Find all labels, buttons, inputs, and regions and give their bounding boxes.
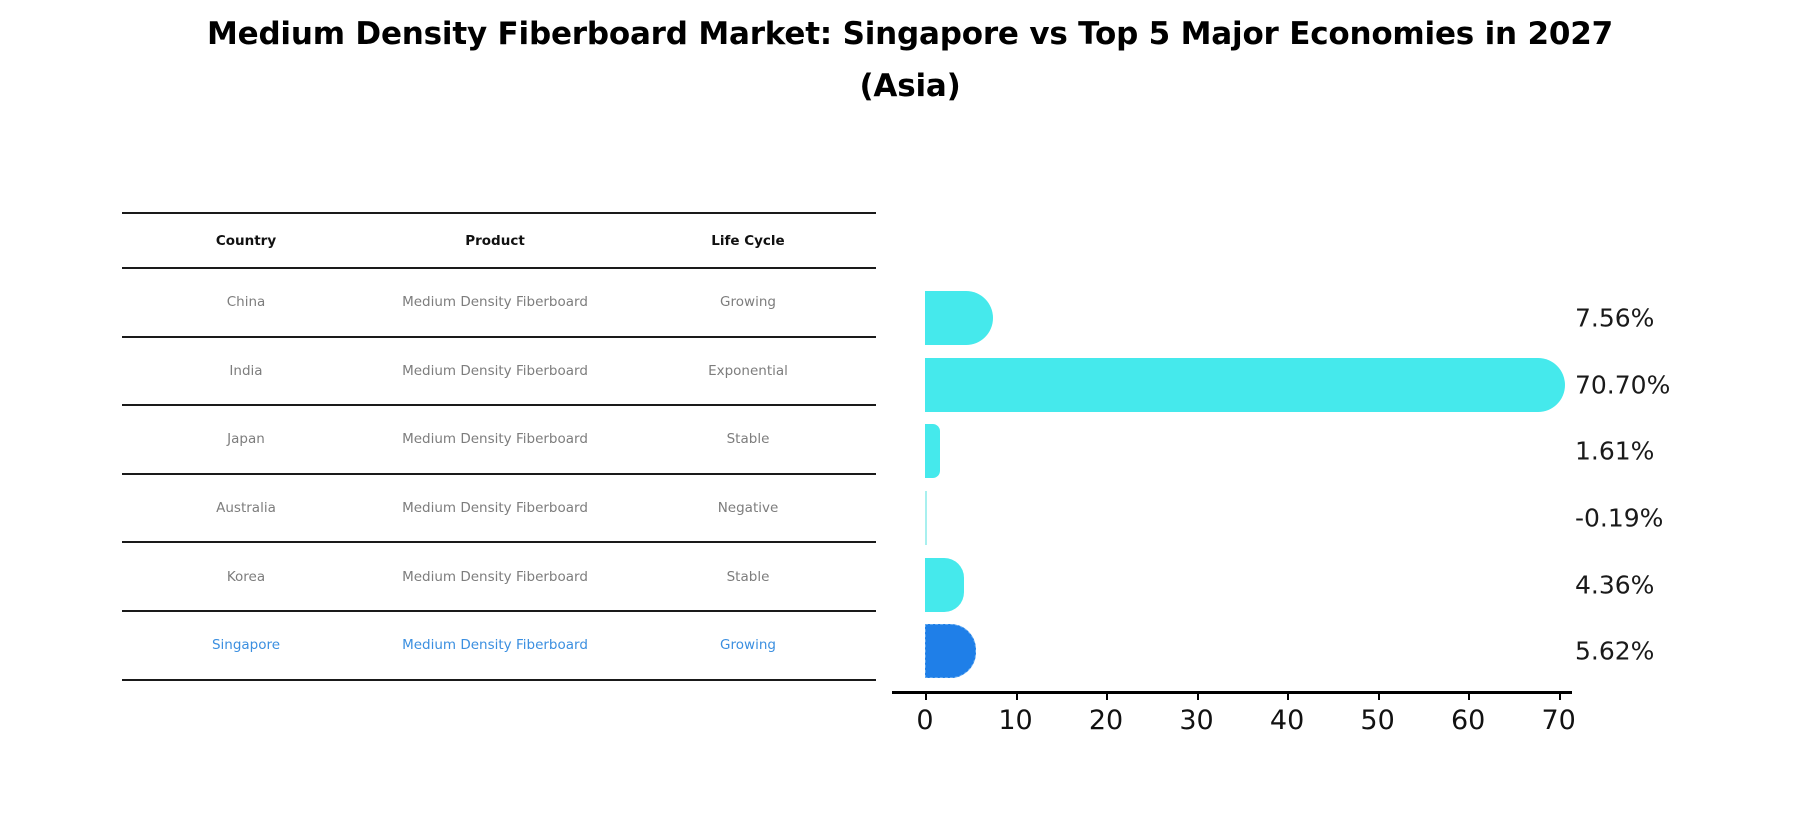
cell-country: Japan [122,406,370,473]
bar-korea[interactable] [925,558,964,612]
x-axis-tick-label: 40 [1270,705,1304,736]
table-row[interactable]: Australia Medium Density Fiberboard Nega… [122,475,876,542]
x-axis-tick [1106,691,1108,700]
bar-singapore[interactable] [925,624,976,678]
cell-product: Medium Density Fiberboard [370,269,620,336]
bar-value-label: 5.62% [1575,637,1654,666]
cell-country: China [122,269,370,336]
cell-life-cycle: Stable [620,543,876,610]
x-axis-tick [1559,691,1561,700]
bar-australia[interactable] [925,491,927,545]
x-axis-line [892,691,1572,694]
table-row[interactable]: Japan Medium Density Fiberboard Stable [122,406,876,473]
bar-track: -0.19% [925,485,1565,552]
cell-life-cycle: Exponential [620,338,876,405]
bar-china[interactable] [925,291,993,345]
x-axis-tick [1468,691,1470,700]
cell-product: Medium Density Fiberboard [370,338,620,405]
x-axis-tick-label: 70 [1541,705,1575,736]
table-row[interactable]: Korea Medium Density Fiberboard Stable [122,543,876,610]
table-header-row: Country Product Life Cycle [122,214,876,267]
bar-track: 70.70% [925,352,1565,419]
bar-track: 5.62% [925,618,1565,685]
bar-track: 4.36% [925,551,1565,618]
cell-product: Medium Density Fiberboard [370,406,620,473]
bar-track: 1.61% [925,418,1565,485]
cell-country: Korea [122,543,370,610]
x-axis-tick-label: 30 [1179,705,1213,736]
x-axis-tick-label: 60 [1451,705,1485,736]
bar-value-label: 70.70% [1575,370,1670,399]
cell-life-cycle: Growing [620,269,876,336]
cell-product: Medium Density Fiberboard [370,543,620,610]
x-axis-tick [1378,691,1380,700]
column-header-product: Product [370,214,620,267]
page-title-line-1: Medium Density Fiberboard Market: Singap… [207,16,1613,52]
bar-value-label: -0.19% [1575,504,1663,533]
plot-area: 7.56%70.70%1.61%-0.19%4.36%5.62% [925,285,1565,690]
x-axis-tick-label: 20 [1089,705,1123,736]
table-bottom-rule [122,679,876,681]
page-title: Medium Density Fiberboard Market: Singap… [0,8,1820,112]
cell-product: Medium Density Fiberboard [370,475,620,542]
cell-country: Singapore [122,612,370,679]
page-title-line-2: (Asia) [0,60,1820,112]
bar-value-label: 1.61% [1575,437,1654,466]
x-axis-tick-label: 0 [916,705,933,736]
column-header-country: Country [122,214,370,267]
column-header-life-cycle: Life Cycle [620,214,876,267]
bar-value-label: 4.36% [1575,570,1654,599]
bar-value-label: 7.56% [1575,304,1654,333]
bar-japan[interactable] [925,424,940,478]
table-row[interactable]: China Medium Density Fiberboard Growing [122,269,876,336]
x-axis-tick [1016,691,1018,700]
x-axis-tick-label: 10 [998,705,1032,736]
table-row[interactable]: India Medium Density Fiberboard Exponent… [122,338,876,405]
country-table: Country Product Life Cycle China Medium … [122,212,876,681]
x-axis-tick [1287,691,1289,700]
x-axis-tick [925,691,927,700]
cell-country: India [122,338,370,405]
cell-product: Medium Density Fiberboard [370,612,620,679]
cell-life-cycle: Negative [620,475,876,542]
x-axis-tick-label: 50 [1360,705,1394,736]
x-axis-tick [1197,691,1199,700]
cell-life-cycle: Growing [620,612,876,679]
bar-india[interactable] [925,358,1565,412]
table-row-singapore[interactable]: Singapore Medium Density Fiberboard Grow… [122,612,876,679]
bar-track: 7.56% [925,285,1565,352]
cell-country: Australia [122,475,370,542]
cell-life-cycle: Stable [620,406,876,473]
